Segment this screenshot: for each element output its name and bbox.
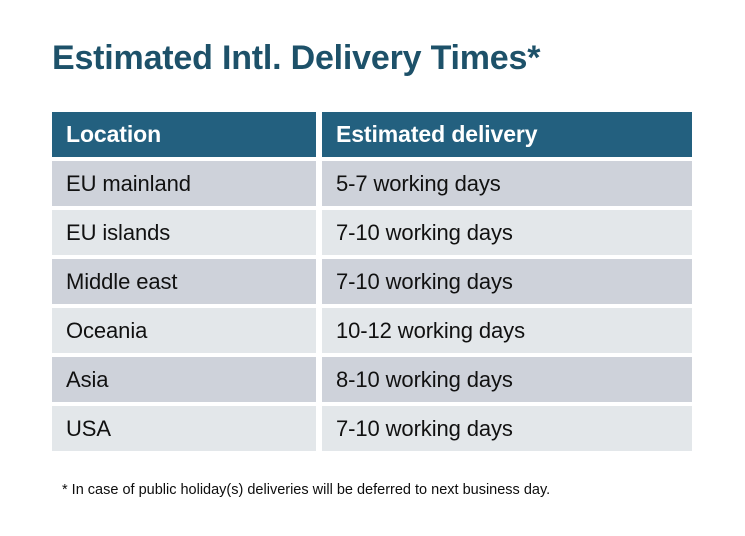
table-row: EU mainland 5-7 working days xyxy=(52,161,692,206)
table-header-row: Location Estimated delivery xyxy=(52,112,692,157)
cell-estimated-delivery: 10-12 working days xyxy=(322,308,692,353)
cell-estimated-delivery: 7-10 working days xyxy=(322,210,692,255)
table-row: Middle east 7-10 working days xyxy=(52,259,692,304)
table-row: USA 7-10 working days xyxy=(52,406,692,451)
cell-estimated-delivery: 5-7 working days xyxy=(322,161,692,206)
cell-location: Asia xyxy=(52,357,316,402)
column-header-estimated-delivery: Estimated delivery xyxy=(322,112,692,157)
cell-estimated-delivery: 7-10 working days xyxy=(322,259,692,304)
column-header-location: Location xyxy=(52,112,316,157)
table-row: Oceania 10-12 working days xyxy=(52,308,692,353)
cell-estimated-delivery: 8-10 working days xyxy=(322,357,692,402)
page-title: Estimated Intl. Delivery Times* xyxy=(52,36,540,80)
table-row: Asia 8-10 working days xyxy=(52,357,692,402)
delivery-times-table: Location Estimated delivery EU mainland … xyxy=(52,112,692,451)
cell-estimated-delivery: 7-10 working days xyxy=(322,406,692,451)
cell-location: Oceania xyxy=(52,308,316,353)
cell-location: EU islands xyxy=(52,210,316,255)
cell-location: Middle east xyxy=(52,259,316,304)
cell-location: USA xyxy=(52,406,316,451)
footnote-text: * In case of public holiday(s) deliverie… xyxy=(62,480,550,500)
cell-location: EU mainland xyxy=(52,161,316,206)
table-row: EU islands 7-10 working days xyxy=(52,210,692,255)
delivery-times-graphic: Estimated Intl. Delivery Times* Location… xyxy=(0,0,745,536)
